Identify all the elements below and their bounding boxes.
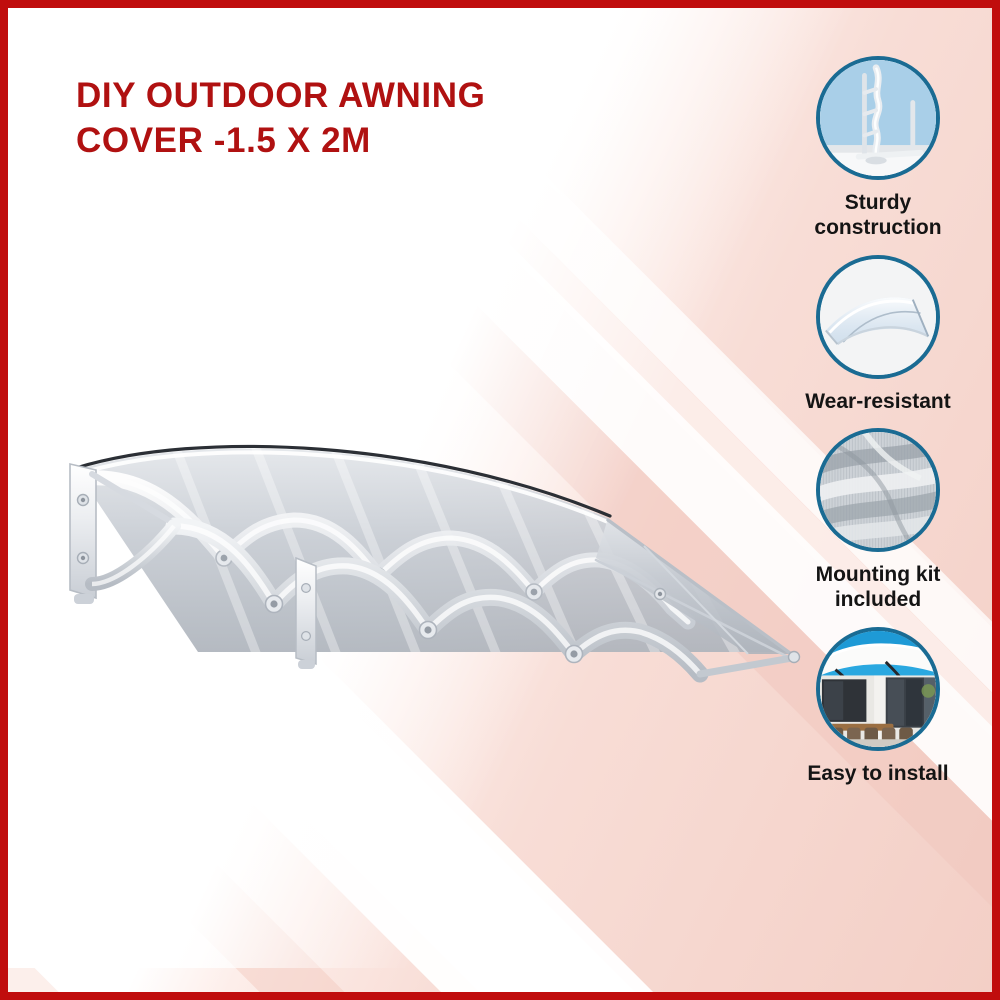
- feature-label: Easy to install: [786, 762, 970, 787]
- feature-easy-to-install: Easy to install: [786, 627, 970, 787]
- page-title: DIY OUTDOOR AWNING COVER -1.5 X 2M: [76, 74, 636, 164]
- easy-to-install-icon: [816, 627, 940, 751]
- mounting-kit-icon: [816, 428, 940, 552]
- sturdy-construction-icon: [816, 56, 940, 180]
- feature-mounting-kit: Mounting kit included: [786, 428, 970, 613]
- title-line-2: COVER -1.5 X 2M: [76, 119, 636, 164]
- product-poster: DIY OUTDOOR AWNING COVER -1.5 X 2M: [0, 0, 1000, 1000]
- feature-label: Sturdy construction: [786, 191, 970, 241]
- feature-label: Mounting kit included: [786, 563, 970, 613]
- product-image: [48, 408, 808, 708]
- feature-list: Sturdy construction: [786, 56, 970, 801]
- feature-label: Wear-resistant: [786, 390, 970, 415]
- feature-sturdy-construction: Sturdy construction: [786, 56, 970, 241]
- feature-wear-resistant: Wear-resistant: [786, 255, 970, 415]
- wall-mount-plate-middle: [296, 558, 316, 669]
- title-line-1: DIY OUTDOOR AWNING: [76, 74, 636, 119]
- wear-resistant-icon: [816, 255, 940, 379]
